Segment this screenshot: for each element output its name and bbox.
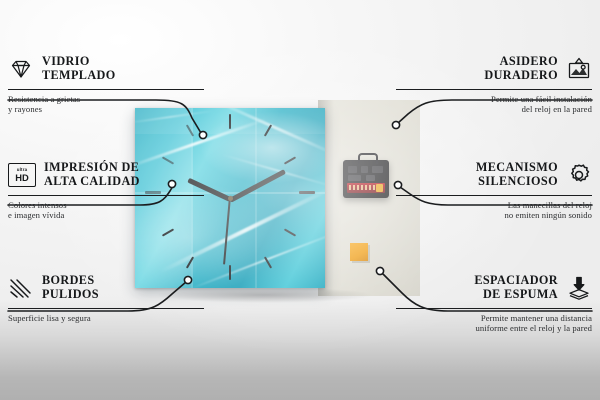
feature-description: Permite una fácil instalación del reloj … (396, 94, 592, 115)
feature-divider (396, 195, 592, 196)
feature-divider (8, 89, 204, 90)
connector-dot-vidrio (199, 131, 206, 138)
feature-asidero-duradero: ASIDERO DURADERO Permite una fácil insta… (396, 52, 592, 114)
feature-title: VIDRIO TEMPLADO (42, 55, 116, 82)
infographic-canvas: VIDRIO TEMPLADO Resistencia a grietas y … (0, 0, 600, 400)
feature-espaciador-de-espuma: ESPACIADOR DE ESPUMA Permite mantener un… (396, 271, 592, 333)
feature-header: ultra HD IMPRESIÓN DE ALTA CALIDAD (8, 158, 204, 192)
feature-impresion-alta-calidad: ultra HD IMPRESIÓN DE ALTA CALIDAD Color… (8, 158, 204, 220)
feature-divider (396, 308, 592, 309)
feature-header: VIDRIO TEMPLADO (8, 52, 204, 86)
feature-desc-line-2: uniforme entre el reloj y la pared (396, 323, 592, 333)
feature-desc-line-1: Permite mantener una distancia (396, 313, 592, 323)
feature-bordes-pulidos: BORDES PULIDOS Superficie lisa y segura (8, 271, 204, 323)
feature-desc-line-1: Permite una fácil instalación (396, 94, 592, 104)
connector-dot-asidero (392, 121, 399, 128)
hanging-frame-icon (566, 56, 592, 82)
gear-icon (566, 162, 592, 188)
feature-title: BORDES PULIDOS (42, 274, 99, 301)
feature-description: Superficie lisa y segura (8, 313, 204, 323)
feature-divider (8, 308, 204, 309)
feature-desc-line-2: e imagen vívida (8, 210, 204, 220)
feature-divider (8, 195, 204, 196)
feature-header: BORDES PULIDOS (8, 271, 204, 305)
feature-title: IMPRESIÓN DE ALTA CALIDAD (44, 161, 140, 188)
feature-title: ASIDERO DURADERO (484, 55, 558, 82)
diamond-icon (8, 56, 34, 82)
feature-description: Resistencia a grietas y rayones (8, 94, 204, 115)
connector-dot-espaciador (376, 267, 383, 274)
hd-icon-large-label: HD (15, 173, 29, 182)
diagonal-stripes-icon (8, 275, 34, 301)
feature-header: MECANISMO SILENCIOSO (396, 158, 592, 192)
feature-desc-line-1: Colores intensos (8, 200, 204, 210)
feature-header: ESPACIADOR DE ESPUMA (396, 271, 592, 305)
feature-vidrio-templado: VIDRIO TEMPLADO Resistencia a grietas y … (8, 52, 204, 114)
feature-header: ASIDERO DURADERO (396, 52, 592, 86)
feature-description: Las manecillas del reloj no emiten ningú… (396, 200, 592, 221)
feature-desc-line-2: del reloj en la pared (396, 104, 592, 114)
feature-desc-line-1: Resistencia a grietas (8, 94, 204, 104)
feature-desc-line-2: no emiten ningún sonido (396, 210, 592, 220)
feature-title: ESPACIADOR DE ESPUMA (474, 274, 558, 301)
feature-desc-line-1: Las manecillas del reloj (396, 200, 592, 210)
feature-title: MECANISMO SILENCIOSO (476, 161, 558, 188)
feature-description: Permite mantener una distancia uniforme … (396, 313, 592, 334)
feature-description: Colores intensos e imagen vívida (8, 200, 204, 221)
feature-desc-line-2: y rayones (8, 104, 204, 114)
ultra-hd-icon: ultra HD (8, 163, 36, 187)
feature-mecanismo-silencioso: MECANISMO SILENCIOSO Las manecillas del … (396, 158, 592, 220)
feature-divider (396, 89, 592, 90)
press-down-layers-icon (566, 275, 592, 301)
feature-desc-line-1: Superficie lisa y segura (8, 313, 204, 323)
